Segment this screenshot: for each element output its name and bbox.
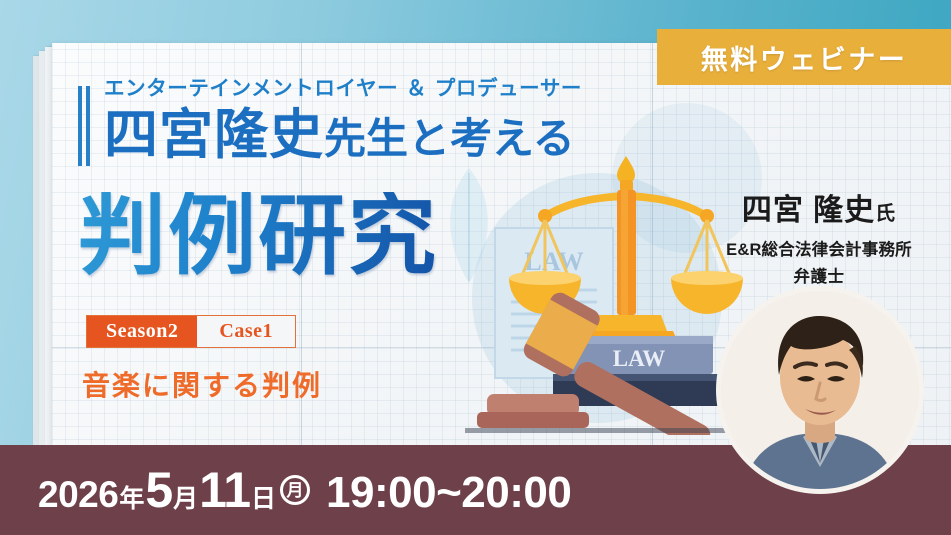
headline-kicker: エンターテインメントロイヤー ＆ プロデューサー — [104, 78, 582, 99]
speaker-name: 四宮 隆史氏 — [690, 185, 948, 229]
date-month: 5 — [145, 465, 172, 515]
chip-case: Case1 — [197, 316, 295, 347]
date-year: 2026 — [38, 476, 118, 513]
portrait-photo — [721, 291, 919, 489]
speaker-organization: E&R総合法律会計事務所 — [690, 236, 948, 260]
speaker-portrait-avatar — [721, 291, 919, 489]
speaker-role: 弁護士 — [690, 263, 948, 287]
headline-speaker-name: 四宮隆史 — [104, 105, 324, 165]
headline-title-tail: 先生と考える — [324, 115, 575, 162]
date-month-unit: 月 — [173, 487, 198, 512]
chip-season: Season2 — [87, 316, 197, 347]
speaker-name-text: 四宮 隆史 — [742, 194, 875, 227]
accent-bars-decoration — [78, 86, 92, 166]
book-law-label: LAW — [613, 346, 665, 371]
date-weekday-badge: 月 — [280, 475, 310, 505]
webinar-banner: 無料ウェビナー エンターテインメントロイヤー ＆ プロデューサー 四宮隆史先生と… — [0, 0, 951, 535]
headline-block: エンターテインメントロイヤー ＆ プロデューサー 四宮隆史先生と考える — [78, 78, 582, 162]
date-year-unit: 年 — [119, 487, 144, 512]
date-day: 11 — [199, 465, 250, 515]
speaker-info: 四宮 隆史氏 E&R総合法律会計事務所 弁護士 — [690, 185, 948, 287]
season-case-chips: Season2 Case1 — [86, 315, 296, 348]
event-datetime: 2026年5月11日月19:00~20:00 — [38, 465, 571, 515]
main-title: 判例研究 — [78, 192, 438, 280]
date-day-unit: 日 — [251, 487, 276, 512]
event-time: 19:00~20:00 — [326, 471, 571, 515]
headline-title-line: 四宮隆史先生と考える — [104, 108, 582, 162]
free-webinar-badge: 無料ウェビナー — [657, 29, 951, 85]
sub-topic-text: 音楽に関する判例 — [82, 364, 322, 404]
speaker-name-suffix: 氏 — [875, 203, 896, 225]
